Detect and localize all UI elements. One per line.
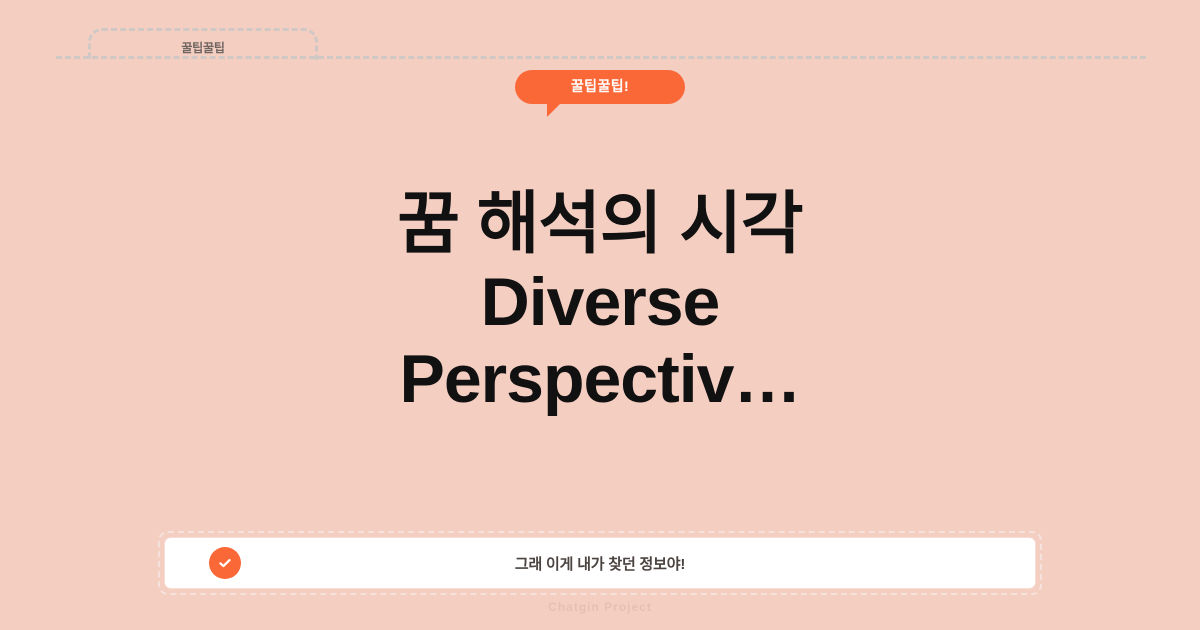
page-title-line-1: 꿈 해석의 시각 — [60, 186, 1140, 264]
callout-card-frame: 그래 이게 내가 찾던 정보야! — [158, 531, 1042, 595]
callout-card[interactable]: 그래 이게 내가 찾던 정보야! — [164, 537, 1036, 589]
footer-brand-label: Chatgin Project — [548, 600, 652, 614]
check-circle-icon — [209, 547, 241, 579]
footer-brand: Chatgin Project — [0, 600, 1200, 614]
tip-badge-label: 꿀팁꿀팁! — [571, 78, 629, 94]
page-title-line-3: Perspectiv… — [60, 341, 1140, 419]
browser-tab-strip: 꿀팁꿀팁 — [0, 0, 1200, 60]
browser-tab-label: 꿀팁꿀팁 — [181, 39, 224, 56]
callout-text: 그래 이게 내가 찾던 정보야! — [241, 553, 959, 574]
browser-tab[interactable]: 꿀팁꿀팁 — [88, 28, 318, 60]
page-title-line-2: Diverse — [60, 264, 1140, 342]
badge-container: 꿀팁꿀팁! — [0, 70, 1200, 104]
tip-badge[interactable]: 꿀팁꿀팁! — [515, 70, 685, 104]
page-title: 꿈 해석의 시각 Diverse Perspectiv… — [0, 186, 1200, 419]
speech-bubble-tail — [547, 101, 579, 117]
